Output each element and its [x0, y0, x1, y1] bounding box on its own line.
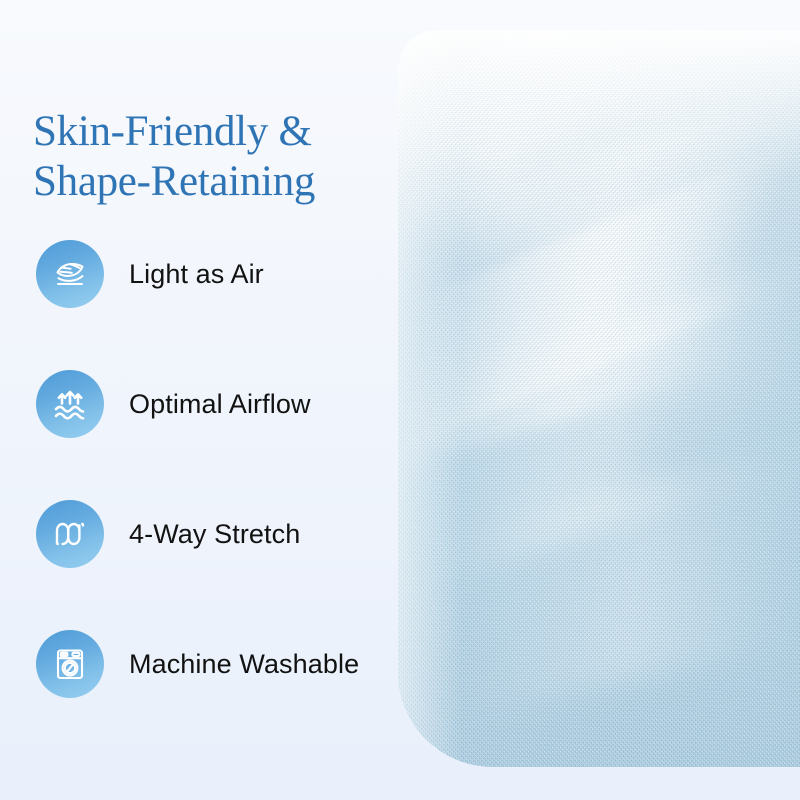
feature-list: Light as Air Optimal Airflow	[36, 240, 396, 698]
feature-label: Machine Washable	[129, 649, 359, 680]
interwoven-stretch-icon	[36, 500, 104, 568]
feature-label: 4-Way Stretch	[129, 519, 300, 550]
fabric-left-fade	[398, 30, 462, 767]
airflow-arrows-waves-icon	[36, 370, 104, 438]
washing-machine-icon	[36, 630, 104, 698]
feature-item-machine-washable: Machine Washable	[36, 630, 396, 698]
feature-label: Light as Air	[129, 259, 264, 290]
feature-item-light-as-air: Light as Air	[36, 240, 396, 308]
feature-label: Optimal Airflow	[129, 389, 311, 420]
feature-item-optimal-airflow: Optimal Airflow	[36, 370, 396, 438]
headline-line-2: Shape-Retaining	[33, 157, 373, 207]
headline-line-1: Skin-Friendly &	[33, 108, 312, 155]
fabric-photo	[398, 30, 800, 767]
feather-icon	[36, 240, 104, 308]
product-feature-poster: Skin-Friendly & Shape-Retaining Light as…	[0, 0, 800, 800]
feature-item-4-way-stretch: 4-Way Stretch	[36, 500, 396, 568]
page-title: Skin-Friendly & Shape-Retaining	[33, 107, 373, 208]
